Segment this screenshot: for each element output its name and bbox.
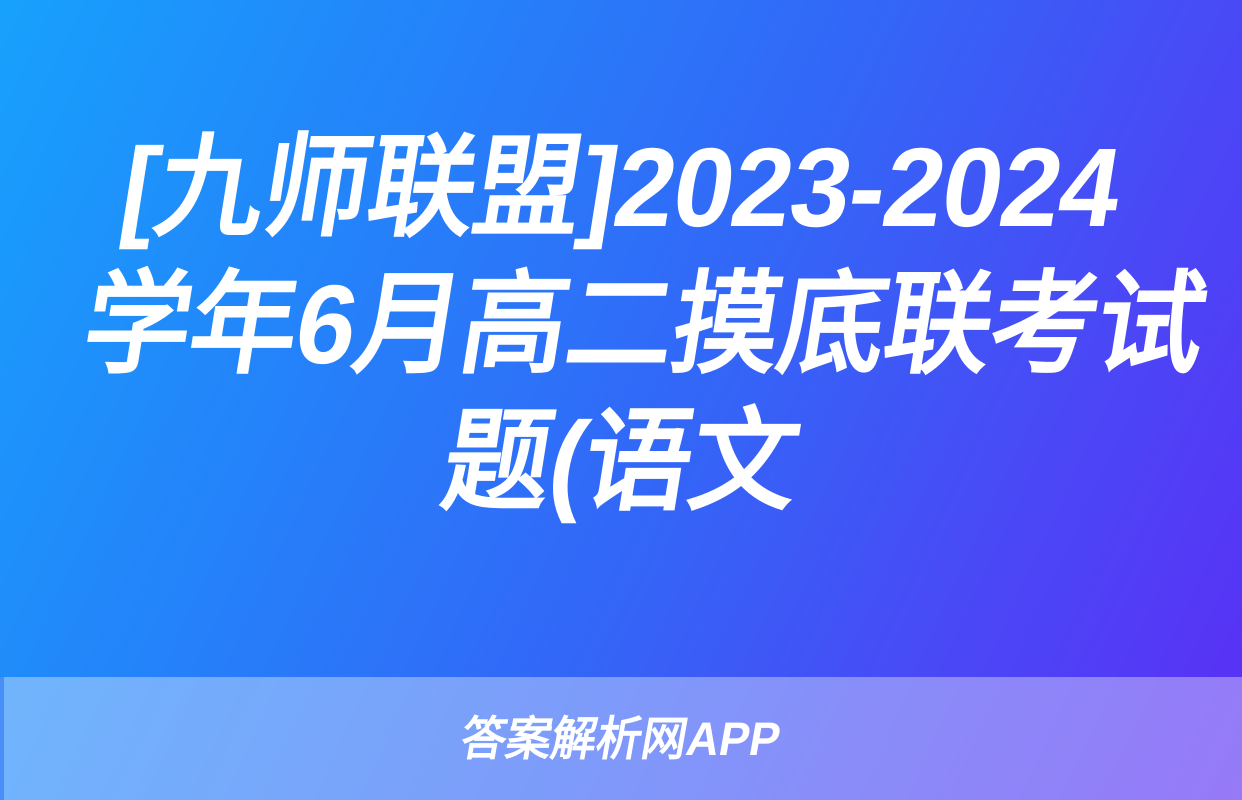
title-line-1: [九师联盟]2023-2024	[74, 119, 1167, 256]
title-line-3: 题(语文	[74, 393, 1167, 530]
app-watermark-label: 答案解析网APP	[458, 715, 785, 762]
strip-left-edge-accent	[0, 677, 4, 800]
exam-title-card: [九师联盟]2023-2024 学年6月高二摸底联考试 题(语文 答案解析网AP…	[0, 0, 1242, 800]
title-block: [九师联盟]2023-2024 学年6月高二摸底联考试 题(语文	[0, 0, 1242, 677]
watermark-strip: 答案解析网APP	[0, 677, 1242, 800]
title-line-2: 学年6月高二摸底联考试	[74, 256, 1167, 393]
